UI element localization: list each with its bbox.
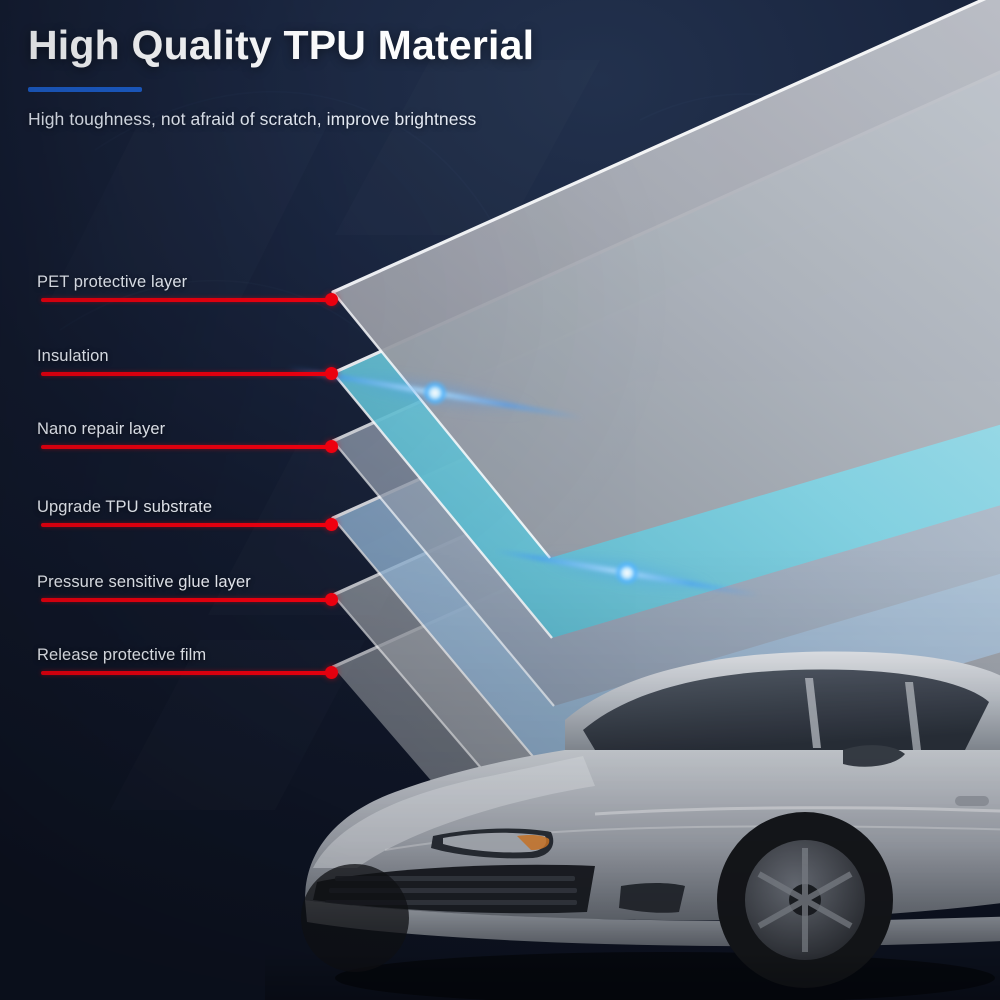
infographic-root: High Quality TPU Material High toughness… [0,0,1000,1000]
background-vignette [0,0,1000,1000]
